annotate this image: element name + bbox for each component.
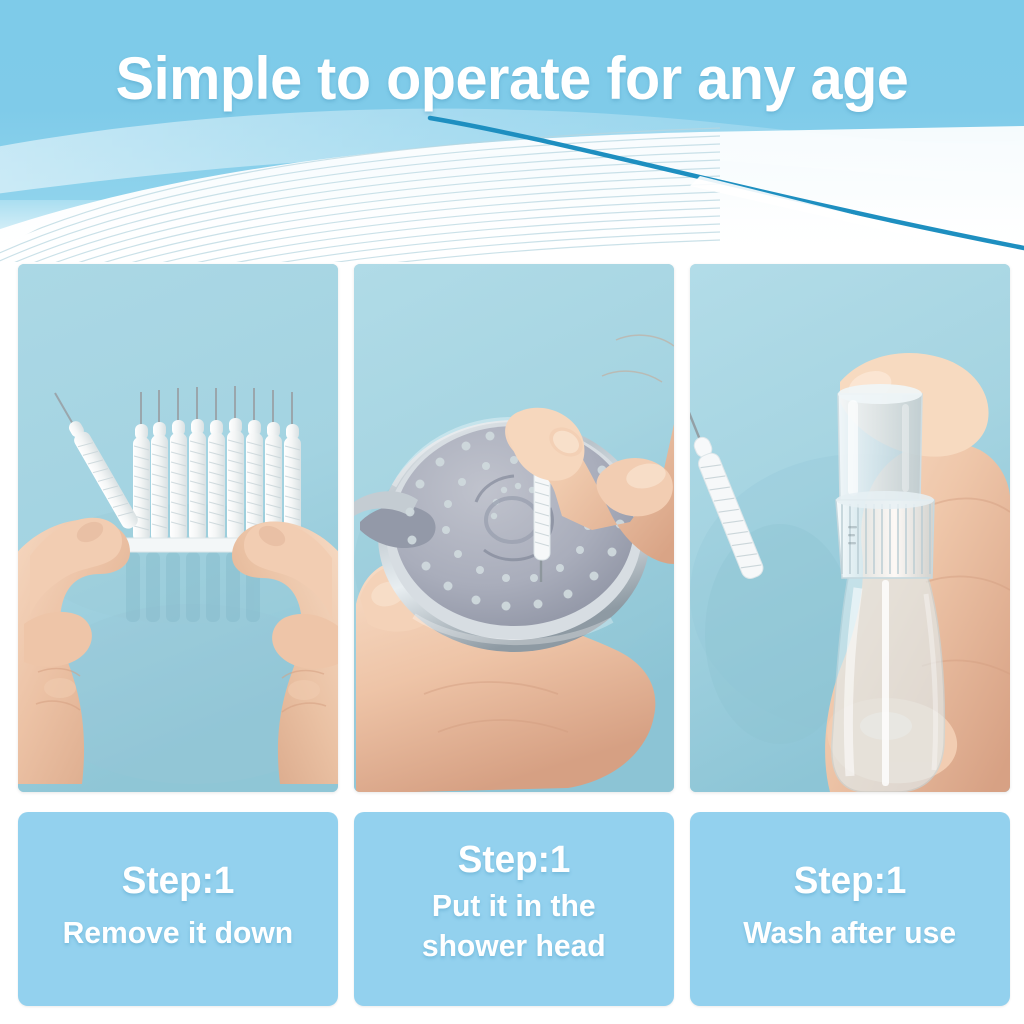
step-card-2[interactable]: Step:1 Put it in the shower head xyxy=(354,812,674,1006)
step-3-description: Wash after use xyxy=(744,913,957,953)
photo-shower-head-illustration xyxy=(354,264,674,792)
photo-brush-strip-illustration xyxy=(18,264,338,792)
bottle-dip-tube xyxy=(882,580,889,786)
header-banner: Simple to operate for any age xyxy=(0,0,1024,262)
step-2-description: Put it in the shower head xyxy=(422,886,606,966)
photo-panel-shower-head[interactable] xyxy=(354,264,674,792)
step-card-1[interactable]: Step:1 Remove it down xyxy=(18,812,338,1006)
header-wave-graphic xyxy=(0,0,1024,262)
step-card-3[interactable]: Step:1 Wash after use xyxy=(690,812,1010,1006)
photo-row xyxy=(0,264,1024,792)
step-2-title: Step:1 xyxy=(458,838,571,882)
step-3-title: Step:1 xyxy=(794,859,907,903)
step-1-title: Step:1 xyxy=(122,859,235,903)
photo-spray-bottle-illustration xyxy=(690,264,1010,792)
step-card-row: Step:1 Remove it down Step:1 Put it in t… xyxy=(0,812,1024,1008)
step-1-description: Remove it down xyxy=(63,913,294,953)
photo-panel-spray-bottle[interactable] xyxy=(690,264,1010,792)
photo-panel-brush-strip[interactable] xyxy=(18,264,338,792)
page-title: Simple to operate for any age xyxy=(20,44,1003,114)
